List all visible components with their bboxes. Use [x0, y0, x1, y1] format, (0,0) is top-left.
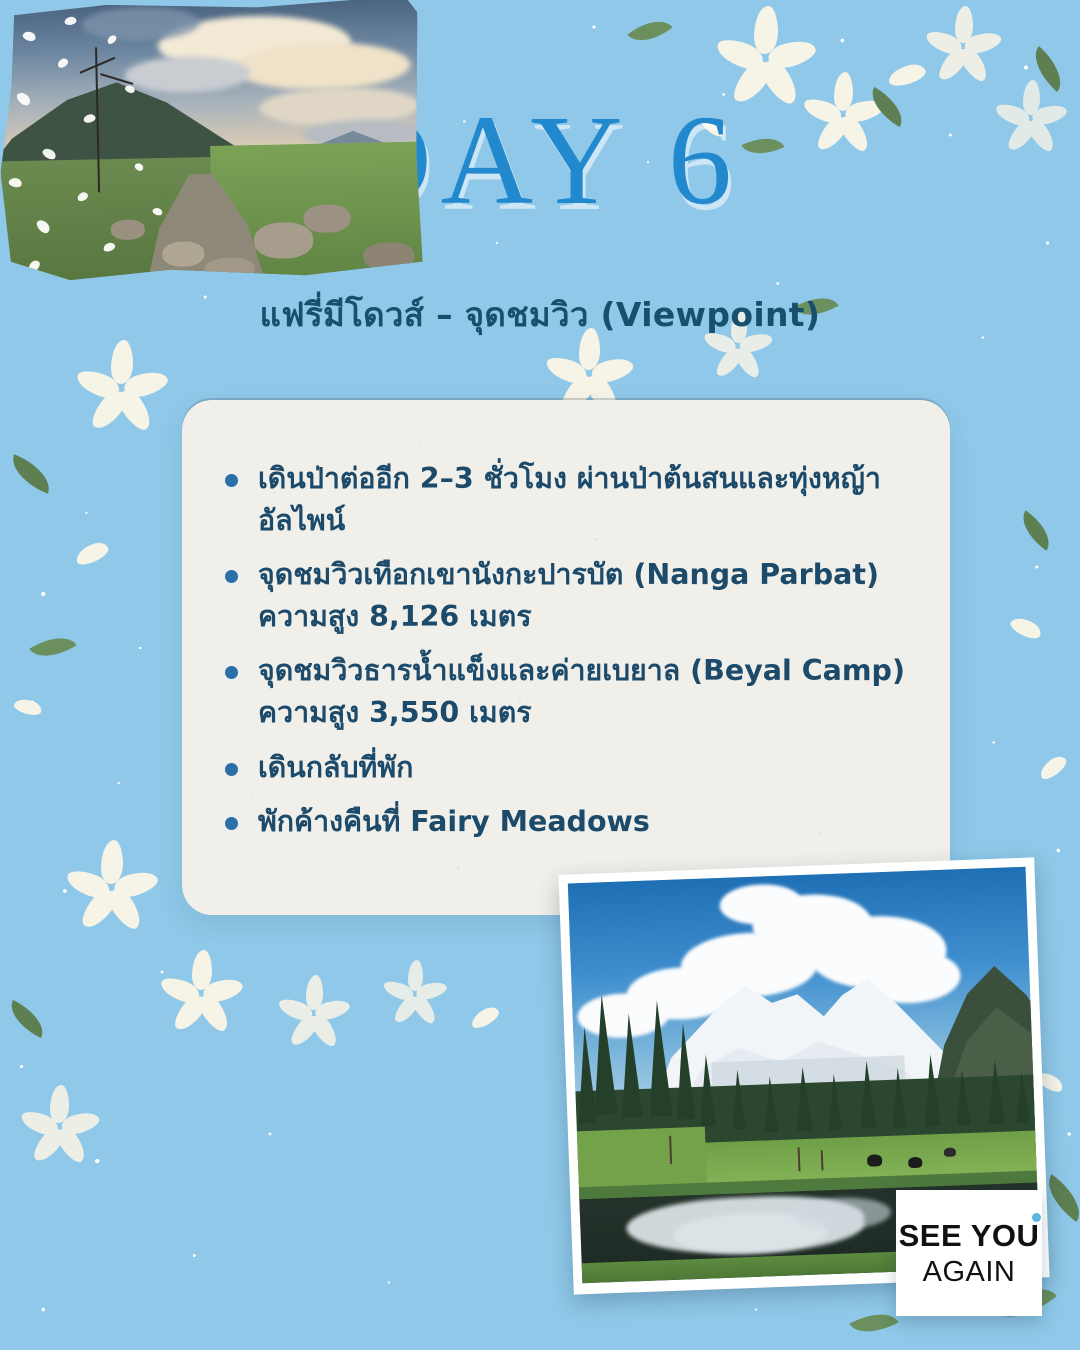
flower-icon [385, 960, 447, 1022]
list-item: จุดชมวิวธารน้ำแข็งและค่ายเบยาล (Beyal Ca… [216, 650, 910, 733]
leaf-icon [3, 1000, 50, 1038]
petal-icon [1008, 613, 1044, 642]
leaf-icon [1014, 510, 1059, 550]
list-item: เดินกลับที่พัก [216, 747, 910, 789]
leaf-icon [627, 10, 672, 52]
logo-line-one: SEE YOU [899, 1220, 1040, 1251]
flower-icon [927, 6, 1001, 80]
list-item: พักค้างคืนที่ Fairy Meadows [216, 801, 910, 843]
flower-icon [718, 6, 814, 102]
petal-icon [73, 539, 111, 567]
see-you-again-logo: SEE YOU AGAIN [896, 1190, 1042, 1316]
list-item: จุดชมวิวเทือกเขานังกะปารบัต (Nanga Parba… [216, 554, 910, 637]
itinerary-card: เดินป่าต่ออีก 2–3 ชั่วโมง ผ่านป่าต้นสนแล… [182, 400, 950, 915]
page-subtitle: แฟรี่มีโดวส์ – จุดชมวิว (Viewpoint) [0, 288, 1080, 341]
logo-line-one-text: SEE YOU [899, 1218, 1040, 1253]
flower-icon [68, 840, 156, 928]
itinerary-bullet-list: เดินป่าต่ออีก 2–3 ชั่วโมง ผ่านป่าต้นสนแล… [182, 400, 950, 843]
petal-icon [886, 61, 927, 88]
leaf-icon [1024, 46, 1071, 92]
flower-icon [22, 1085, 98, 1161]
flower-icon [78, 340, 168, 430]
leaf-icon [29, 627, 76, 668]
fairy-meadows-trail-photo [0, 0, 423, 284]
petal-icon [1036, 753, 1069, 782]
logo-line-two: AGAIN [923, 1258, 1016, 1287]
list-item: เดินป่าต่ออีก 2–3 ชั่วโมง ผ่านป่าต้นสนแล… [216, 458, 910, 541]
flower-icon [162, 950, 242, 1030]
petal-icon [13, 696, 44, 718]
flower-icon [280, 975, 350, 1045]
leaf-icon [5, 454, 57, 493]
poster-canvas: DAY 6 แฟรี่มีโดวส์ – จุดชมวิว (Viewpoint… [0, 0, 1080, 1350]
logo-dot-icon [1032, 1213, 1041, 1222]
leaf-icon [849, 1303, 898, 1343]
petal-icon [468, 1004, 502, 1031]
